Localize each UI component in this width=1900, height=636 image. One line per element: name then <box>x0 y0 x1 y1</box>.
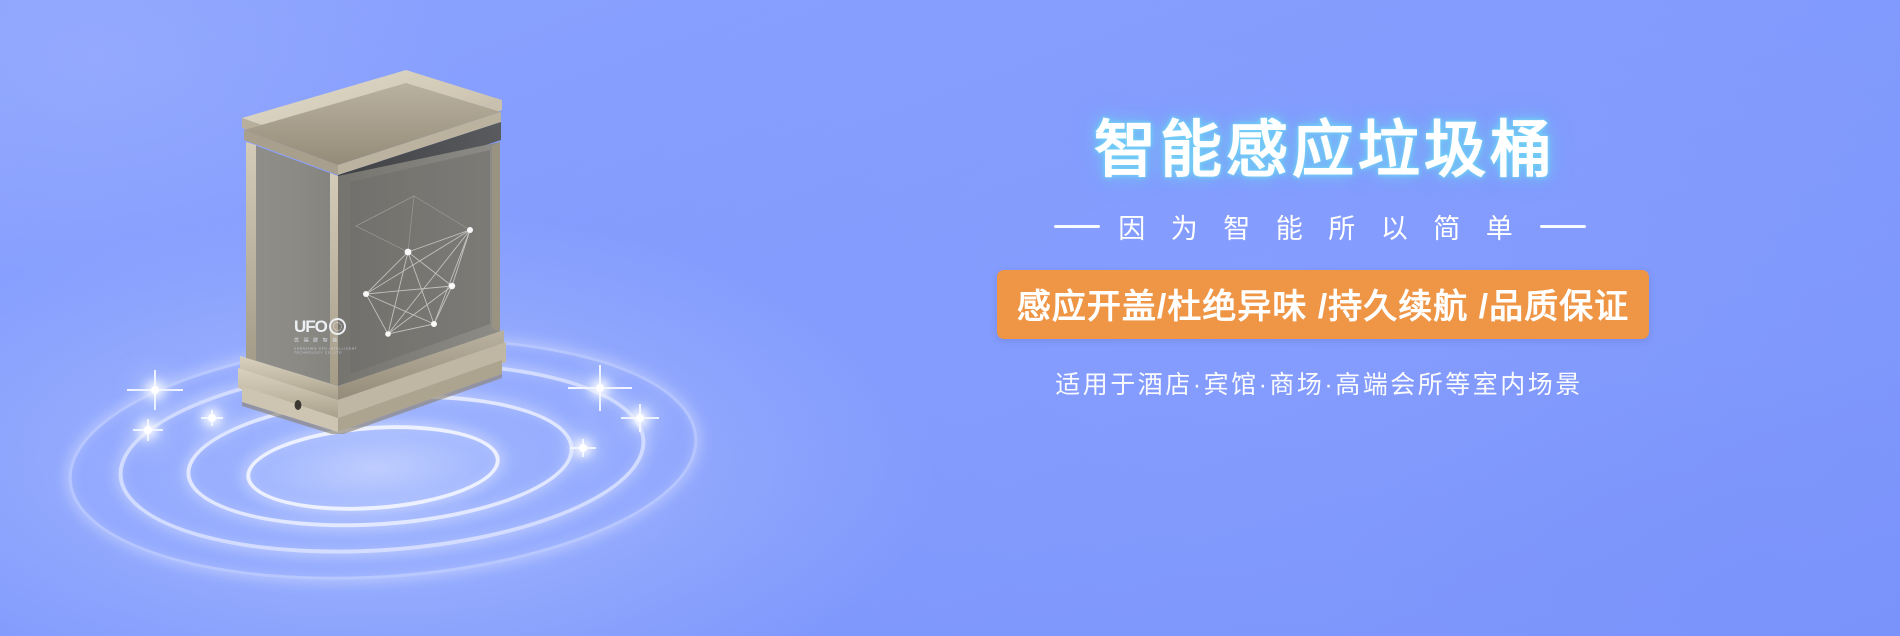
marketing-copy-block: 智能感应垃圾桶 因 为 智 能 所 以 简 单 感应开盖/杜绝异味 /持久续航 … <box>880 118 1740 401</box>
subtitle-row: 因 为 智 能 所 以 简 单 <box>880 207 1740 246</box>
dash-left-icon <box>1054 225 1100 228</box>
product-image-trash-bin: UFO 优 福 欧 智 能 SHENZHEN UFO INTELLIGENT T… <box>238 56 506 434</box>
feature-badge-wrap: 感应开盖/杜绝异味 /持久续航 /品质保证 <box>880 246 1740 339</box>
usage-scenarios-text: 适用于酒店·宾馆·商场·高端会所等室内场景 <box>880 365 1740 401</box>
dash-right-icon <box>1540 225 1586 228</box>
headline-title: 智能感应垃圾桶 <box>880 118 1740 183</box>
product-stage: UFO 优 福 欧 智 能 SHENZHEN UFO INTELLIGENT T… <box>0 0 760 636</box>
promo-banner: UFO 优 福 欧 智 能 SHENZHEN UFO INTELLIGENT T… <box>0 0 1900 636</box>
feature-badge: 感应开盖/杜绝异味 /持久续航 /品质保证 <box>997 270 1649 339</box>
subtitle-text: 因 为 智 能 所 以 简 单 <box>1118 207 1522 246</box>
